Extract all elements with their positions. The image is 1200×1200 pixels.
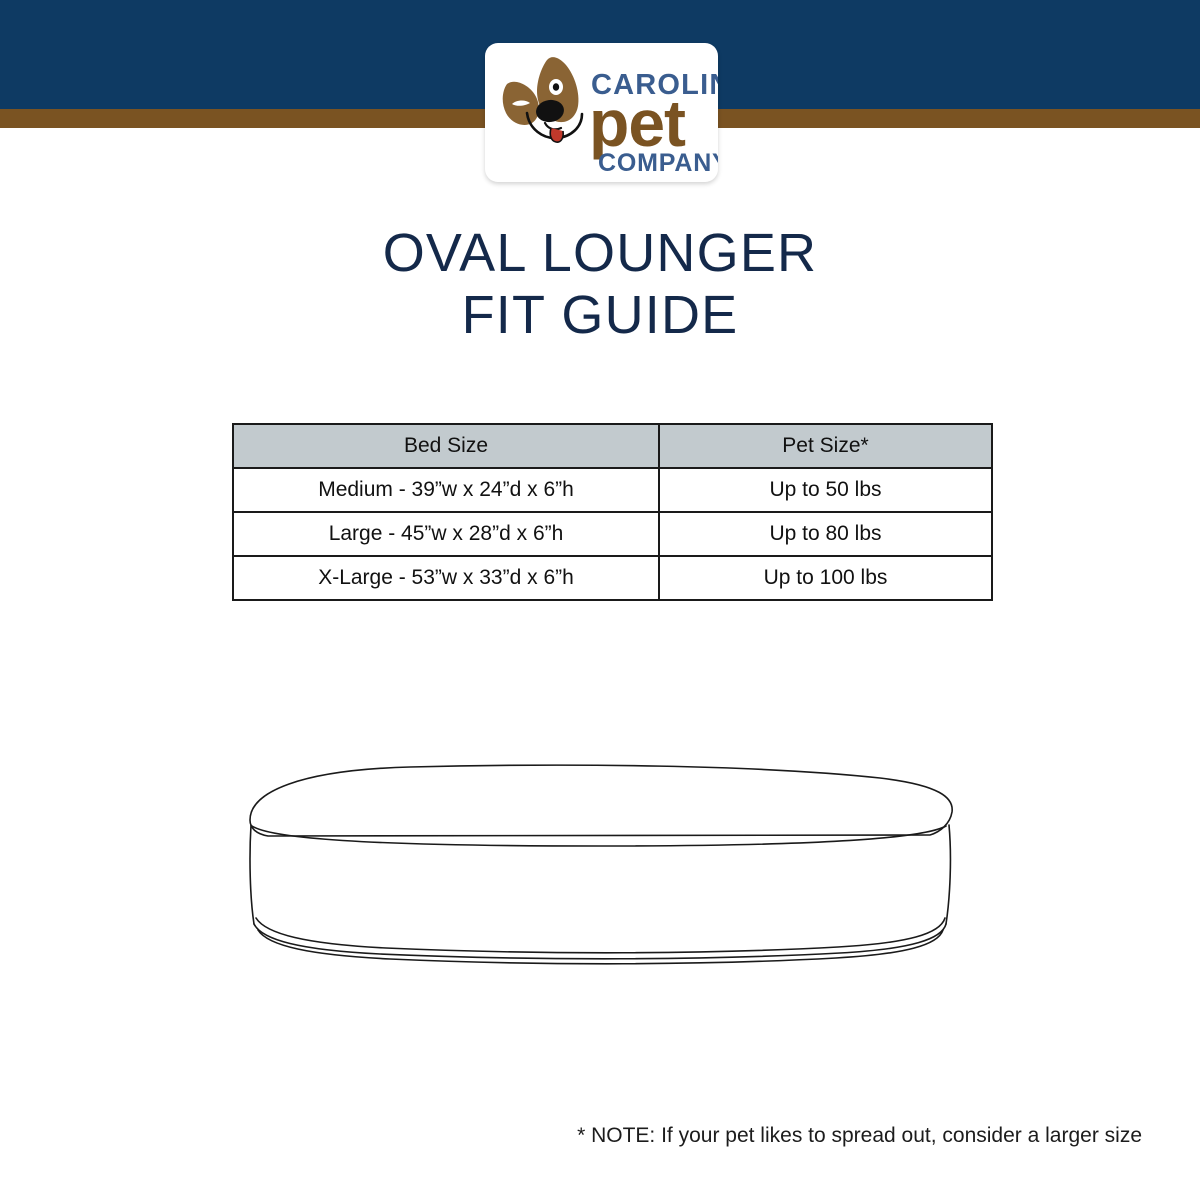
page-title-line-2: FIT GUIDE	[0, 284, 1200, 346]
table-body: Medium - 39”w x 24”d x 6”h Up to 50 lbs …	[233, 468, 992, 600]
column-header-bed-size: Bed Size	[233, 424, 659, 468]
carolina-pet-company-logo-icon: CAROLINA pet COMPANY	[485, 43, 718, 182]
cell-pet-size: Up to 50 lbs	[659, 468, 992, 512]
oval-lounger-illustration	[240, 758, 960, 968]
fit-guide-table: Bed Size Pet Size* Medium - 39”w x 24”d …	[232, 423, 993, 601]
logo-text-company: COMPANY	[598, 149, 718, 177]
table-header: Bed Size Pet Size*	[233, 424, 992, 468]
bed-side-right	[946, 825, 950, 924]
dog-head-icon	[503, 57, 582, 142]
cell-bed-size: X-Large - 53”w x 33”d x 6”h	[233, 556, 659, 600]
bed-side-left	[250, 825, 254, 924]
table-row: Large - 45”w x 28”d x 6”h Up to 80 lbs	[233, 512, 992, 556]
bed-top-surface	[250, 765, 952, 836]
table-header-row: Bed Size Pet Size*	[233, 424, 992, 468]
logo-card: CAROLINA pet COMPANY	[485, 43, 718, 182]
cell-bed-size: Medium - 39”w x 24”d x 6”h	[233, 468, 659, 512]
column-header-pet-size: Pet Size*	[659, 424, 992, 468]
table-row: X-Large - 53”w x 33”d x 6”h Up to 100 lb…	[233, 556, 992, 600]
page-title-line-1: OVAL LOUNGER	[0, 222, 1200, 284]
table-row: Medium - 39”w x 24”d x 6”h Up to 50 lbs	[233, 468, 992, 512]
page-title: OVAL LOUNGER FIT GUIDE	[0, 222, 1200, 346]
bed-bottom-rim-inner	[256, 918, 945, 953]
cell-pet-size: Up to 80 lbs	[659, 512, 992, 556]
footnote-note: * NOTE: If your pet likes to spread out,…	[0, 1124, 1200, 1148]
cell-bed-size: Large - 45”w x 28”d x 6”h	[233, 512, 659, 556]
cell-pet-size: Up to 100 lbs	[659, 556, 992, 600]
